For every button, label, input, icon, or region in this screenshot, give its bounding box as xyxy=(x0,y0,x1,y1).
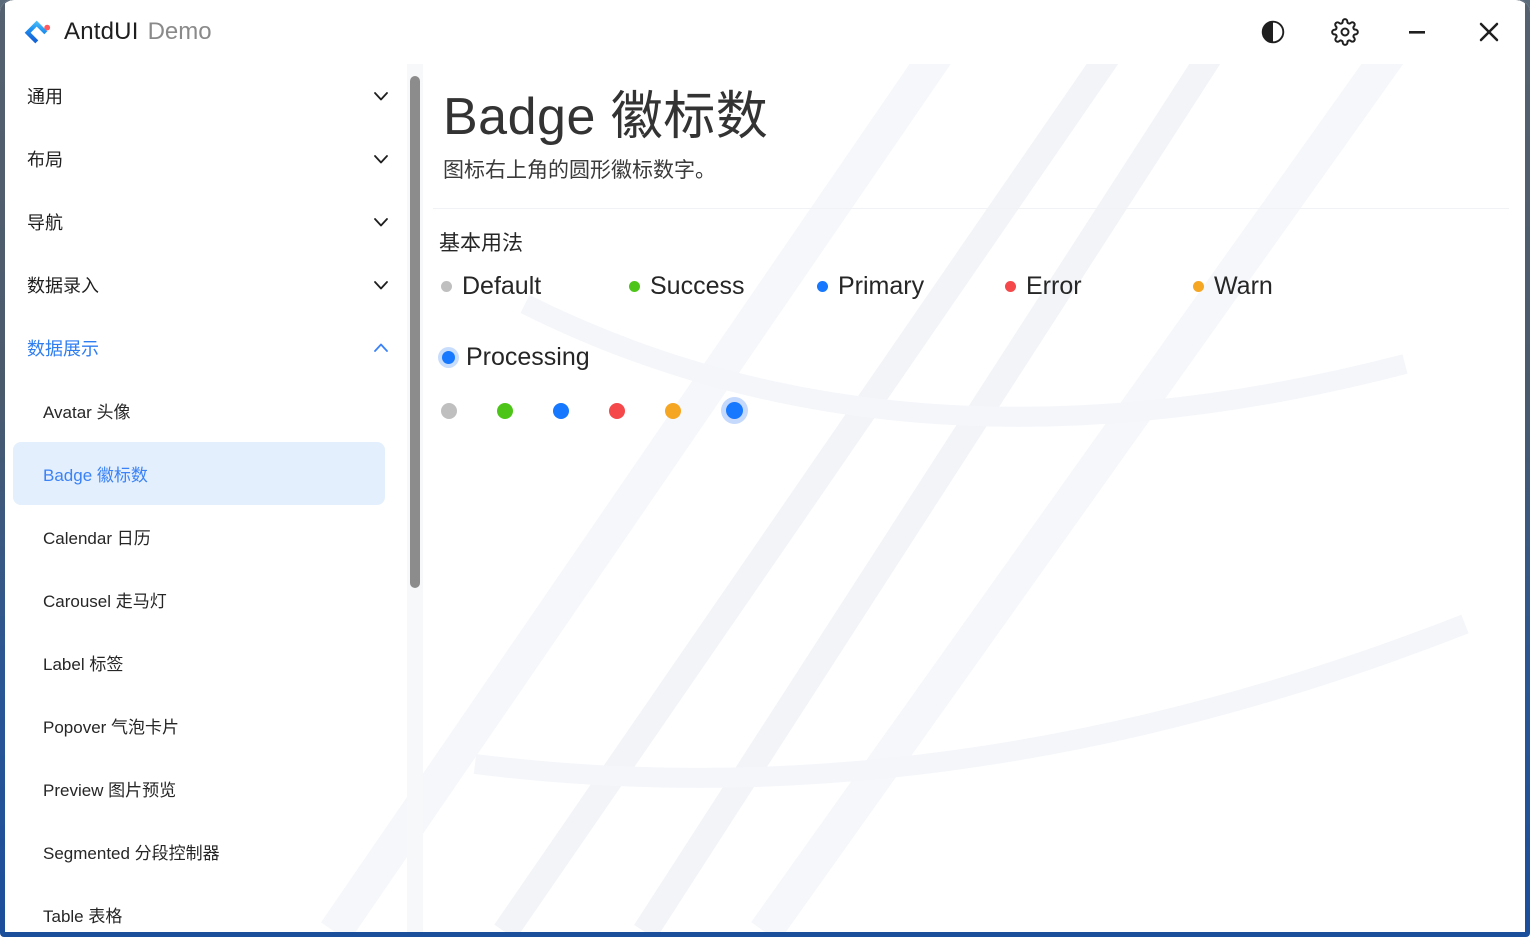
dot-success xyxy=(497,403,553,419)
chevron-down-icon xyxy=(371,275,391,295)
badge-label: Primary xyxy=(838,272,924,301)
dot-error xyxy=(609,403,665,419)
badge-dot-icon xyxy=(497,403,513,419)
sidebar-item-table[interactable]: Table 表格 xyxy=(13,883,385,932)
badge-label: Warn xyxy=(1214,272,1273,301)
badge-label: Success xyxy=(650,272,744,301)
badge-processing: Processing xyxy=(441,343,1501,372)
badge-primary: Primary xyxy=(817,272,1005,301)
sidebar-group-label: 导航 xyxy=(27,209,371,235)
sidebar-item-popover[interactable]: Popover 气泡卡片 xyxy=(13,694,385,757)
header-divider xyxy=(433,208,1509,209)
sidebar-group-data-display[interactable]: 数据展示 xyxy=(5,316,405,379)
app-title: AntdUI xyxy=(64,18,139,46)
dot-processing xyxy=(721,402,777,419)
sidebar-group-data-entry[interactable]: 数据录入 xyxy=(5,253,405,316)
page-title: Badge 徽标数 xyxy=(443,74,768,149)
sidebar-item-badge[interactable]: Badge 徽标数 xyxy=(13,442,385,505)
sidebar-item-label[interactable]: Label 标签 xyxy=(13,631,385,694)
app-body: 通用 布局 导航 xyxy=(5,64,1525,932)
theme-toggle-icon[interactable] xyxy=(1237,0,1309,64)
dot-default xyxy=(441,403,497,419)
sidebar-item-label: Popover 气泡卡片 xyxy=(43,713,179,738)
badge-error: Error xyxy=(1005,272,1193,301)
page-description: 图标右上角的圆形徽标数字。 xyxy=(443,154,716,184)
sidebar-item-carousel[interactable]: Carousel 走马灯 xyxy=(13,568,385,631)
sidebar-group-general[interactable]: 通用 xyxy=(5,64,405,127)
badge-label-row: Default Success Primary Error xyxy=(441,272,1501,372)
chevron-down-icon xyxy=(371,86,391,106)
section-title: 基本用法 xyxy=(439,227,523,257)
sidebar-group-label: 通用 xyxy=(27,83,371,109)
badge-dot-icon xyxy=(629,281,640,292)
badge-dot-icon xyxy=(442,351,455,364)
badge-dot-icon xyxy=(1193,281,1204,292)
badge-label: Default xyxy=(462,272,541,301)
chevron-up-icon xyxy=(371,338,391,358)
minimize-icon[interactable] xyxy=(1381,0,1453,64)
sidebar-item-label: Preview 图片预览 xyxy=(43,776,176,801)
close-icon[interactable] xyxy=(1453,0,1525,64)
app-subtitle: Demo xyxy=(148,18,212,46)
dot-warn xyxy=(665,403,721,419)
badge-dot-icon xyxy=(1005,281,1016,292)
sidebar-item-label: Badge 徽标数 xyxy=(43,461,148,486)
badge-dot-icon xyxy=(441,281,452,292)
badge-dot-row xyxy=(441,402,777,419)
sidebar-group-label: 布局 xyxy=(27,146,371,172)
chevron-down-icon xyxy=(371,149,391,169)
sidebar-menu: 通用 布局 导航 xyxy=(5,64,405,932)
sidebar-item-label: Carousel 走马灯 xyxy=(43,587,167,612)
badge-default: Default xyxy=(441,272,629,301)
badge-success: Success xyxy=(629,272,817,301)
sidebar-item-avatar[interactable]: Avatar 头像 xyxy=(13,379,385,442)
sidebar-item-preview[interactable]: Preview 图片预览 xyxy=(13,757,385,820)
badge-dot-icon xyxy=(665,403,681,419)
sidebar-item-label: Calendar 日历 xyxy=(43,524,151,549)
window-content: AntdUI Demo xyxy=(5,0,1525,932)
sidebar-item-segmented[interactable]: Segmented 分段控制器 xyxy=(13,820,385,883)
badge-label: Error xyxy=(1026,272,1082,301)
badge-dot-icon xyxy=(553,403,569,419)
badge-dot-icon xyxy=(726,402,743,419)
badge-dot-icon xyxy=(441,403,457,419)
sidebar-item-label: Table 表格 xyxy=(43,902,122,927)
sidebar: 通用 布局 导航 xyxy=(5,64,425,932)
sidebar-group-layout[interactable]: 布局 xyxy=(5,127,405,190)
title-bar[interactable]: AntdUI Demo xyxy=(5,0,1525,64)
sidebar-item-label: Label 标签 xyxy=(43,650,123,675)
window-controls xyxy=(1237,0,1525,64)
title-bar-branding: AntdUI Demo xyxy=(5,17,212,47)
badge-warn: Warn xyxy=(1193,272,1381,301)
sidebar-item-label: Avatar 头像 xyxy=(43,398,131,423)
badge-label: Processing xyxy=(466,343,590,372)
gear-icon[interactable] xyxy=(1309,0,1381,64)
sidebar-item-calendar[interactable]: Calendar 日历 xyxy=(13,505,385,568)
chevron-down-icon xyxy=(371,212,391,232)
antdui-logo-icon xyxy=(22,17,52,47)
badge-dot-icon xyxy=(817,281,828,292)
main-content: Badge 徽标数 图标右上角的圆形徽标数字。 基本用法 Default Suc… xyxy=(425,64,1525,932)
sidebar-item-label: Segmented 分段控制器 xyxy=(43,839,220,864)
sidebar-group-label: 数据展示 xyxy=(27,335,371,361)
app-window: AntdUI Demo xyxy=(0,0,1530,937)
sidebar-group-label: 数据录入 xyxy=(27,272,371,298)
sidebar-scrollbar-thumb[interactable] xyxy=(410,76,420,588)
badge-dot-icon xyxy=(609,403,625,419)
dot-primary xyxy=(553,403,609,419)
sidebar-group-navigation[interactable]: 导航 xyxy=(5,190,405,253)
